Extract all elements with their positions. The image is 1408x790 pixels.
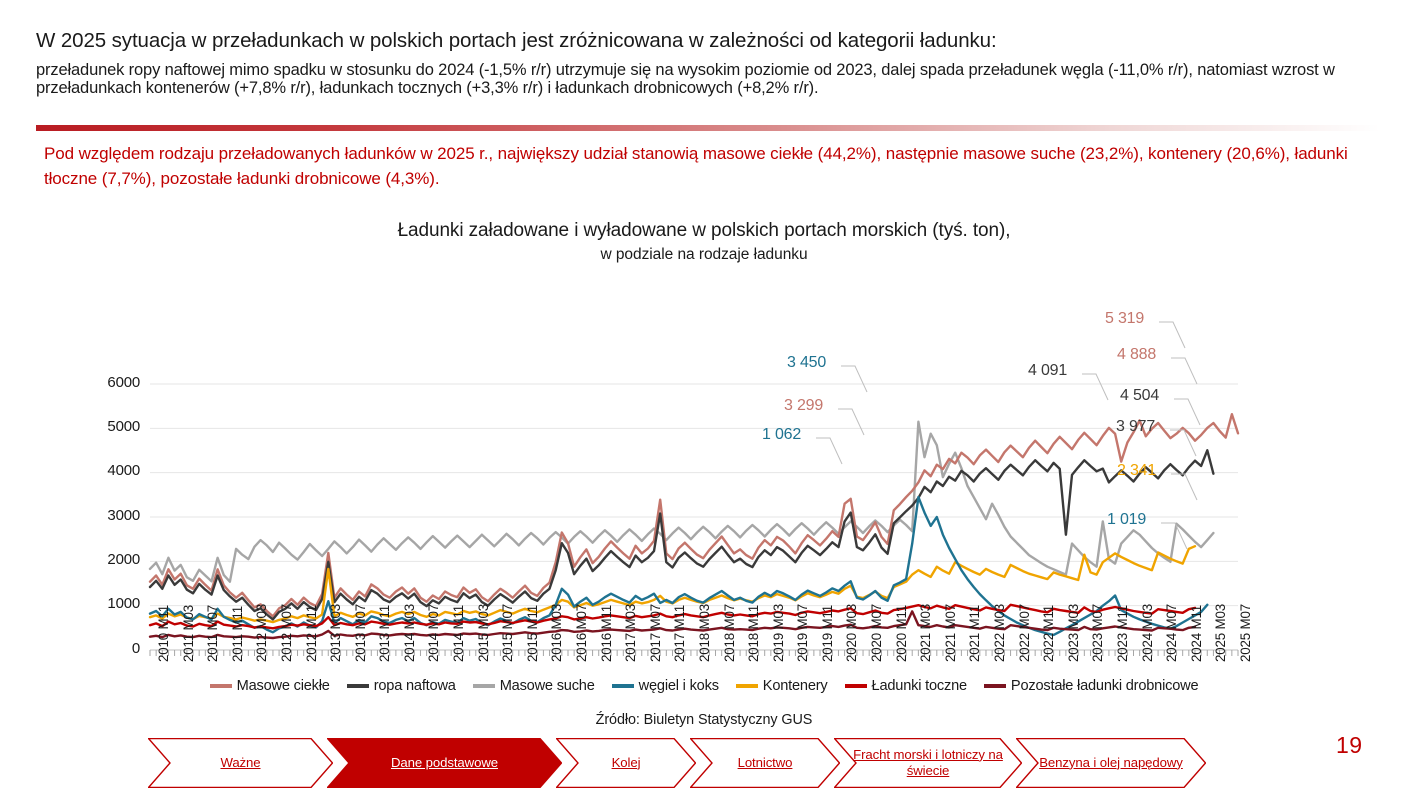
x-axis-tick-label: 2011 M03 bbox=[181, 605, 196, 662]
x-axis-tick-label: 2012 M03 bbox=[254, 604, 269, 662]
x-axis-tick-label: 2020 M03 bbox=[844, 604, 859, 662]
chart-container: Ładunki załadowane i wyładowane w polski… bbox=[0, 218, 1408, 728]
y-axis-tick-label: 6000 bbox=[80, 374, 140, 391]
chart-data-label: 3 977 bbox=[1116, 418, 1155, 436]
nav-chevron-label: Fracht morski i lotniczy na świecie bbox=[834, 747, 1022, 780]
nav-chevron-label: Benzyna i olej napędowy bbox=[1033, 755, 1189, 772]
x-axis-tick-label: 2017 M11 bbox=[672, 605, 687, 662]
nav-chevron-label: Kolej bbox=[606, 755, 647, 772]
legend-item[interactable]: węgiel i koks bbox=[612, 678, 719, 694]
header-subtitle: przeładunek ropy naftowej mimo spadku w … bbox=[36, 61, 1376, 98]
x-axis-tick-label: 2022 M03 bbox=[992, 604, 1007, 662]
chart-data-label: 1 019 bbox=[1107, 511, 1146, 529]
x-axis-tick-label: 2023 M03 bbox=[1066, 604, 1081, 662]
x-axis-tick-label: 2020 M07 bbox=[869, 604, 884, 662]
x-axis-tick-label: 2010 M11 bbox=[156, 605, 171, 662]
page-number: 19 bbox=[1336, 732, 1363, 759]
x-axis-tick-label: 2021 M11 bbox=[967, 605, 982, 662]
legend-item[interactable]: Ładunki toczne bbox=[845, 678, 967, 694]
y-axis-tick-label: 5000 bbox=[80, 418, 140, 435]
x-axis-tick-label: 2016 M11 bbox=[599, 605, 614, 662]
header-block: W 2025 sytuacja w przeładunkach w polski… bbox=[36, 28, 1376, 98]
chart-data-label: 4 091 bbox=[1028, 362, 1067, 380]
legend-swatch-icon bbox=[845, 684, 867, 688]
x-axis-tick-label: 2012 M11 bbox=[304, 605, 319, 662]
series-line bbox=[150, 414, 1238, 616]
nav-chevron-label: Dane podstawowe bbox=[385, 755, 504, 772]
chart-data-label: 4 888 bbox=[1117, 346, 1156, 364]
x-axis-tick-label: 2018 M03 bbox=[697, 604, 712, 662]
x-axis-tick-label: 2017 M07 bbox=[648, 604, 663, 662]
y-axis-tick-label: 0 bbox=[80, 640, 140, 657]
legend-label: ropa naftowa bbox=[374, 678, 456, 694]
chart-data-label: 3 299 bbox=[784, 397, 823, 415]
nav-chevron-kolej[interactable]: Kolej bbox=[556, 738, 696, 788]
chart-data-label: 4 504 bbox=[1120, 387, 1159, 405]
chart-data-label: 2 341 bbox=[1117, 462, 1156, 480]
x-axis-tick-label: 2023 M11 bbox=[1115, 605, 1130, 662]
x-axis-tick-label: 2018 M11 bbox=[746, 605, 761, 662]
x-axis-tick-label: 2012 M07 bbox=[279, 604, 294, 662]
legend-swatch-icon bbox=[473, 684, 495, 688]
nav-chevron-wa-ne[interactable]: Ważne bbox=[148, 738, 333, 788]
x-axis-tick-label: 2020 M11 bbox=[894, 605, 909, 662]
x-axis-tick-label: 2018 M07 bbox=[722, 604, 737, 662]
highlight-note: Pod względem rodzaju przeładowanych ładu… bbox=[44, 142, 1374, 191]
annotation-leader-line bbox=[1171, 474, 1197, 500]
x-axis-tick-label: 2024 M03 bbox=[1140, 604, 1155, 662]
series-line bbox=[150, 421, 1213, 581]
header-divider bbox=[36, 125, 1380, 131]
nav-chevron-label: Lotnictwo bbox=[732, 755, 799, 772]
legend-label: Pozostałe ładunki drobnicowe bbox=[1011, 678, 1198, 694]
x-axis-tick-label: 2021 M07 bbox=[943, 604, 958, 662]
annotation-leader-line bbox=[1082, 374, 1108, 400]
legend-swatch-icon bbox=[210, 684, 232, 688]
annotation-leader-line bbox=[838, 409, 864, 435]
page-title: W 2025 sytuacja w przeładunkach w polski… bbox=[36, 28, 1376, 54]
legend-item[interactable]: Masowe suche bbox=[473, 678, 595, 694]
x-axis-tick-label: 2014 M11 bbox=[451, 605, 466, 662]
annotation-leader-line bbox=[1170, 430, 1196, 456]
legend-label: Ładunki toczne bbox=[872, 678, 967, 694]
x-axis-tick-label: 2013 M03 bbox=[328, 604, 343, 662]
nav-chevron-benzyna-i-olej-nap-dowy[interactable]: Benzyna i olej napędowy bbox=[1016, 738, 1206, 788]
x-axis-tick-label: 2016 M03 bbox=[549, 604, 564, 662]
y-axis-tick-label: 4000 bbox=[80, 462, 140, 479]
chart-legend: Masowe ciekłeropa naftowaMasowe suchewęg… bbox=[0, 678, 1408, 694]
annotation-leader-line bbox=[816, 438, 842, 464]
legend-item[interactable]: Masowe ciekłe bbox=[210, 678, 330, 694]
x-axis-tick-label: 2019 M03 bbox=[771, 604, 786, 662]
x-axis-tick-label: 2015 M07 bbox=[500, 604, 515, 662]
y-axis-tick-label: 2000 bbox=[80, 551, 140, 568]
x-axis-tick-label: 2017 M03 bbox=[623, 604, 638, 662]
legend-swatch-icon bbox=[984, 684, 1006, 688]
slide-root: W 2025 sytuacja w przeładunkach w polski… bbox=[0, 0, 1408, 790]
x-axis-tick-label: 2025 M07 bbox=[1238, 604, 1253, 662]
nav-chevron-lotnictwo[interactable]: Lotnictwo bbox=[690, 738, 840, 788]
x-axis-tick-label: 2019 M11 bbox=[820, 605, 835, 662]
section-nav[interactable]: WażneDane podstawoweKolejLotnictwoFracht… bbox=[148, 738, 1206, 788]
nav-chevron-dane-podstawowe[interactable]: Dane podstawowe bbox=[327, 738, 562, 788]
legend-item[interactable]: Kontenery bbox=[736, 678, 828, 694]
annotation-leader-line bbox=[841, 366, 867, 392]
x-axis-tick-label: 2025 M03 bbox=[1213, 604, 1228, 662]
legend-swatch-icon bbox=[612, 684, 634, 688]
legend-label: Kontenery bbox=[763, 678, 828, 694]
x-axis-tick-label: 2013 M11 bbox=[377, 605, 392, 662]
chart-data-label: 5 319 bbox=[1105, 310, 1144, 328]
legend-item[interactable]: Pozostałe ładunki drobnicowe bbox=[984, 678, 1198, 694]
chart-data-label: 3 450 bbox=[787, 354, 826, 372]
series-line bbox=[150, 450, 1213, 619]
nav-chevron-label: Ważne bbox=[214, 755, 266, 772]
annotation-leader-line bbox=[1174, 399, 1200, 425]
chart-data-label: 1 062 bbox=[762, 426, 801, 444]
legend-item[interactable]: ropa naftowa bbox=[347, 678, 456, 694]
legend-label: węgiel i koks bbox=[639, 678, 719, 694]
x-axis-tick-label: 2014 M03 bbox=[402, 604, 417, 662]
legend-label: Masowe ciekłe bbox=[237, 678, 330, 694]
legend-swatch-icon bbox=[347, 684, 369, 688]
annotation-leader-line bbox=[1171, 358, 1197, 384]
x-axis-tick-label: 2024 M07 bbox=[1164, 604, 1179, 662]
annotation-leader-line bbox=[1159, 322, 1185, 348]
legend-label: Masowe suche bbox=[500, 678, 595, 694]
x-axis-tick-label: 2019 M07 bbox=[795, 604, 810, 662]
x-axis-tick-label: 2011 M07 bbox=[205, 605, 220, 662]
chart-source: Źródło: Biuletyn Statystyczny GUS bbox=[0, 712, 1408, 728]
x-axis-tick-label: 2022 M11 bbox=[1041, 605, 1056, 662]
y-axis-tick-label: 3000 bbox=[80, 507, 140, 524]
x-axis-tick-label: 2016 M07 bbox=[574, 604, 589, 662]
x-axis-tick-label: 2023 M07 bbox=[1090, 604, 1105, 662]
x-axis-tick-label: 2013 M07 bbox=[353, 604, 368, 662]
legend-swatch-icon bbox=[736, 684, 758, 688]
x-axis-tick-label: 2024 M11 bbox=[1189, 605, 1204, 662]
x-axis-tick-label: 2014 M07 bbox=[426, 604, 441, 662]
x-axis-tick-label: 2021 M03 bbox=[918, 604, 933, 662]
x-axis-tick-label: 2015 M03 bbox=[476, 604, 491, 662]
x-axis-tick-label: 2015 M11 bbox=[525, 605, 540, 662]
chart-title: Ładunki załadowane i wyładowane w polski… bbox=[0, 218, 1408, 244]
chart-plot-area: 60005000400030002000100002010 M112011 M0… bbox=[0, 278, 1408, 678]
chart-subtitle: w podziale na rodzaje ładunku bbox=[0, 246, 1408, 264]
y-axis-tick-label: 1000 bbox=[80, 595, 140, 612]
x-axis-tick-label: 2011 M11 bbox=[230, 606, 245, 662]
x-axis-tick-label: 2022 M07 bbox=[1017, 604, 1032, 662]
nav-chevron-fracht-morski-i-lotniczy-na-wiecie[interactable]: Fracht morski i lotniczy na świecie bbox=[834, 738, 1022, 788]
